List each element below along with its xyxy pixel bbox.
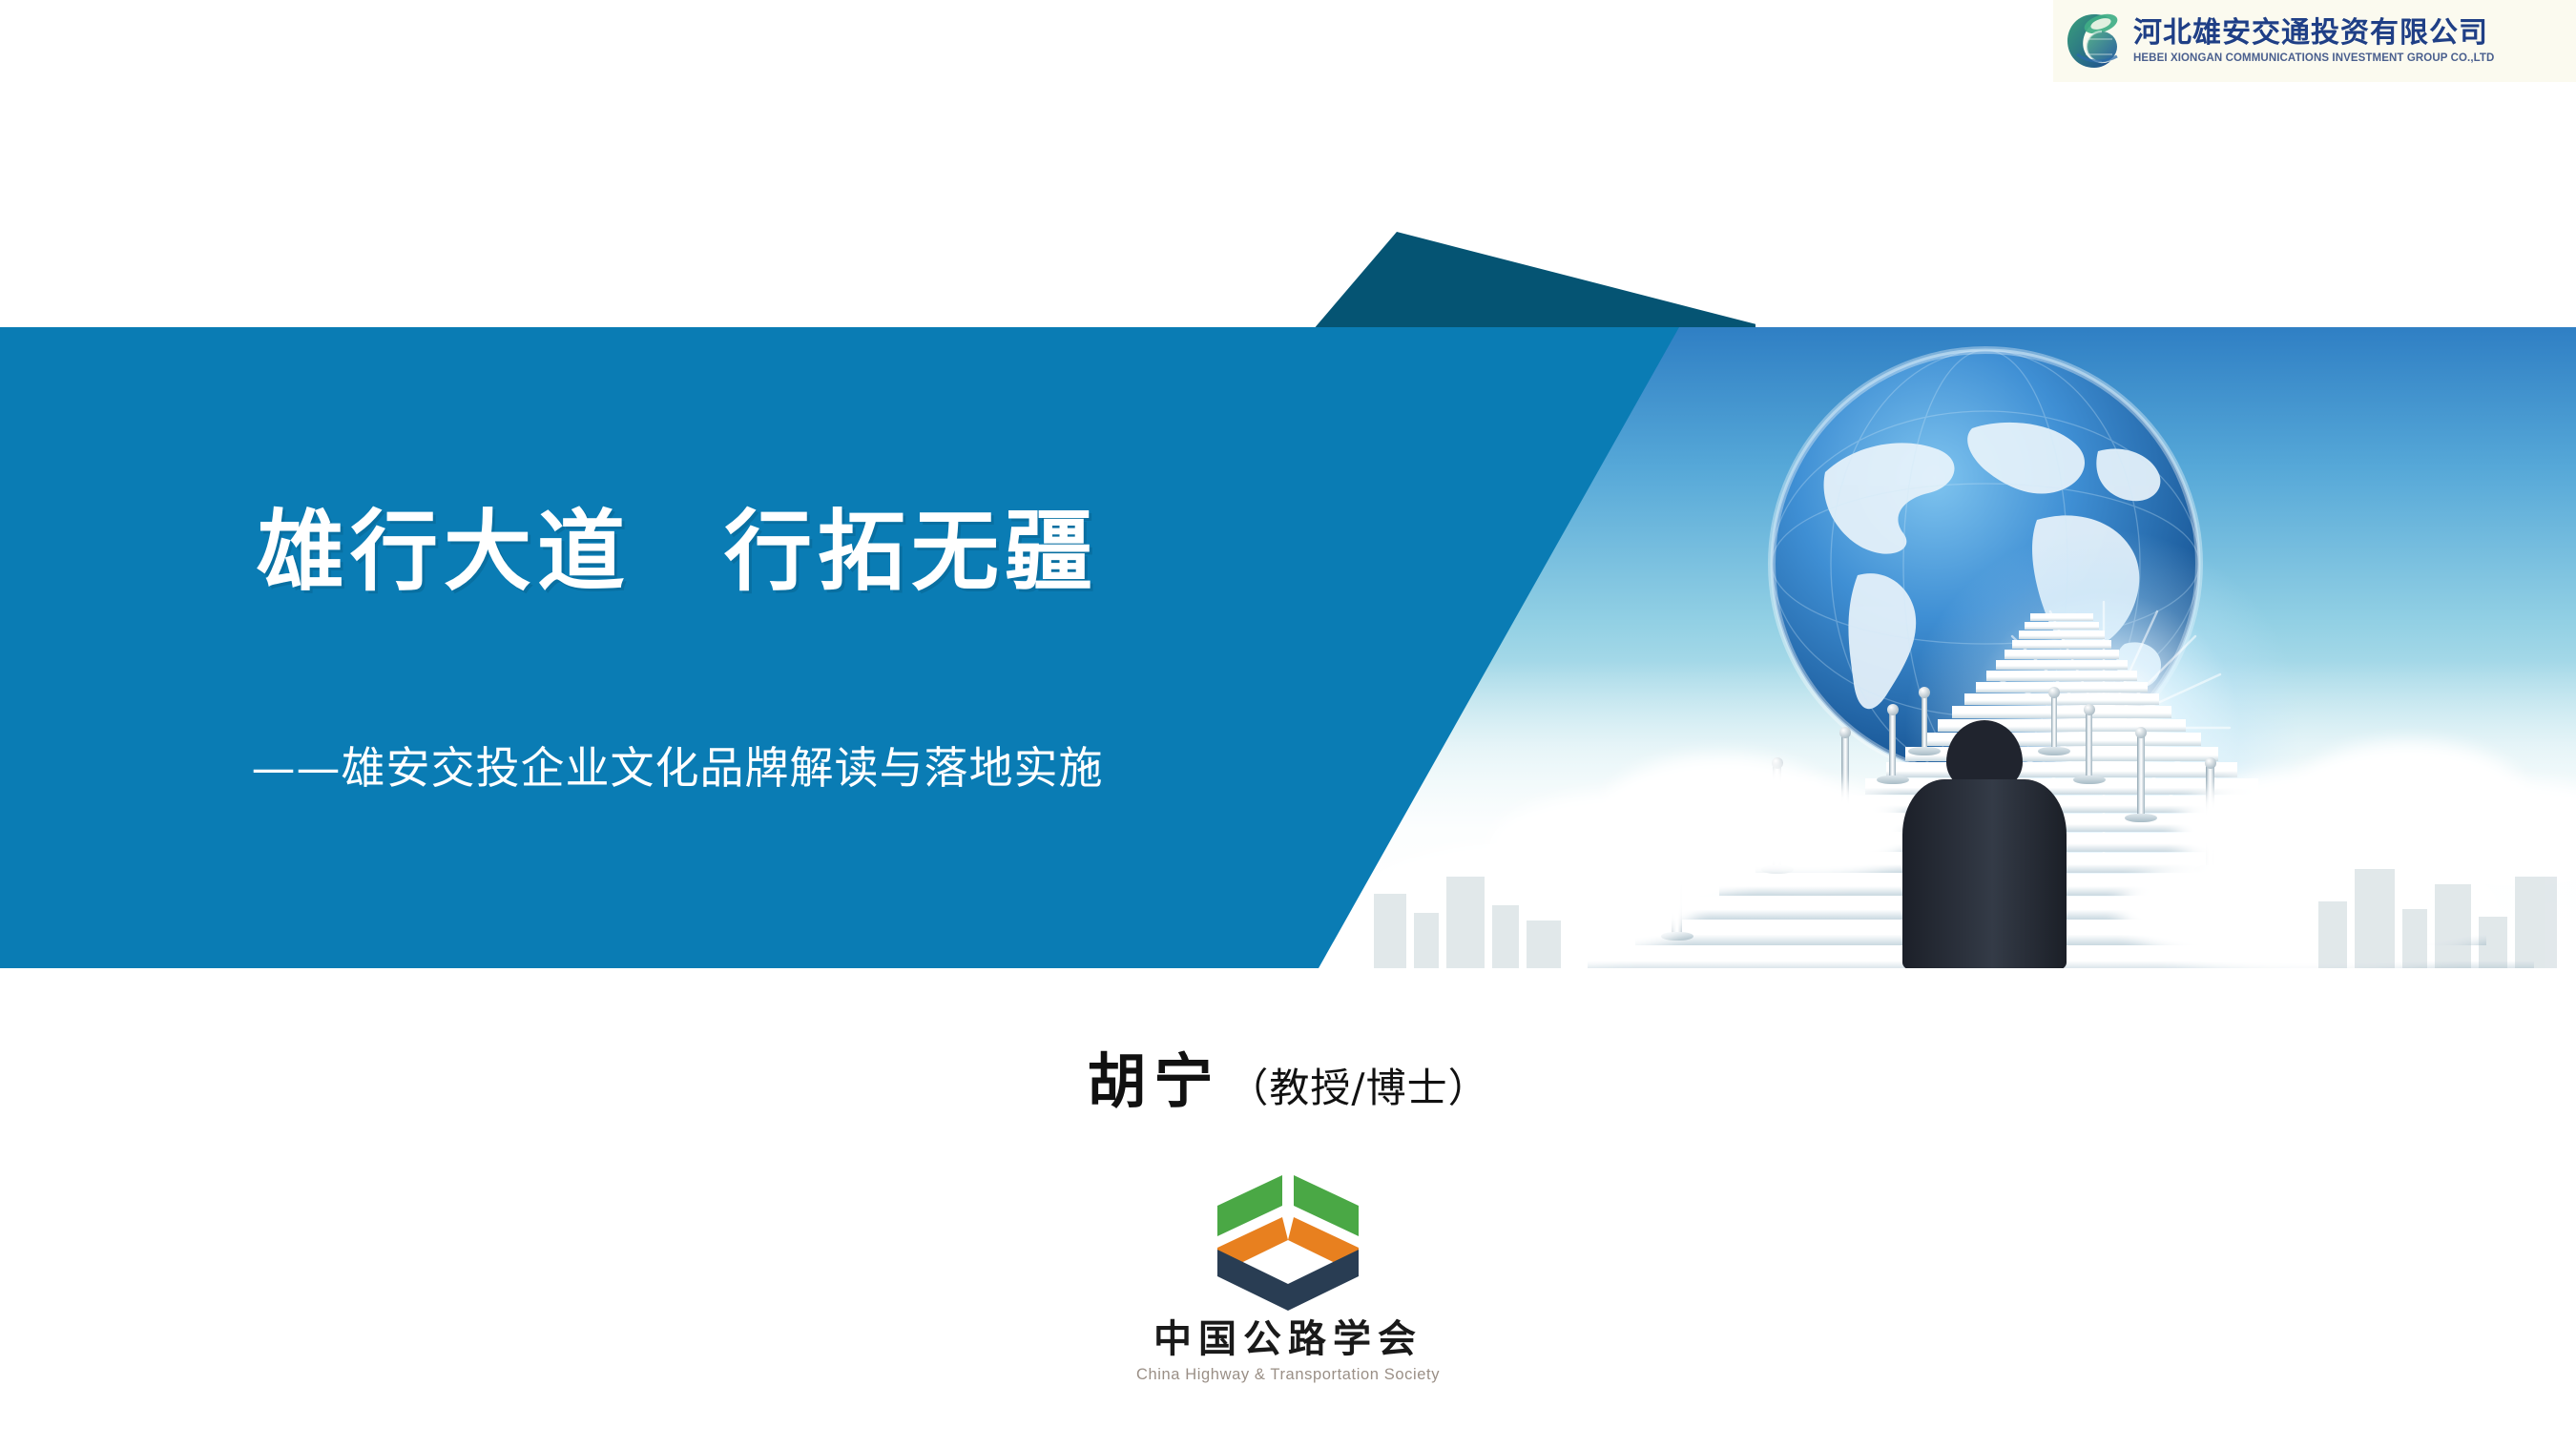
- hero-text-block: 雄行大道 行拓无疆 ——雄安交投企业文化品牌解读与落地实施: [0, 327, 1355, 968]
- chevron-hexagon-emblem-icon: [1208, 1169, 1368, 1313]
- speaker-line: 胡宁（教授/博士）: [0, 1033, 2576, 1119]
- corporate-name-en: HEBEI XIONGAN COMMUNICATIONS INVESTMENT …: [2133, 52, 2494, 66]
- society-name-en: China Highway & Transportation Society: [1136, 1367, 1440, 1383]
- globe-swoosh-logo-icon: [2063, 10, 2126, 72]
- page-title: 雄行大道 行拓无疆: [0, 504, 1355, 600]
- page-subtitle: ——雄安交投企业文化品牌解读与落地实施: [0, 742, 1355, 795]
- accent-triangle-shape: [1307, 232, 1755, 337]
- presentation-slide: 河北雄安交通投资有限公司 HEBEI XIONGAN COMMUNICATION…: [0, 0, 2576, 1448]
- corporate-name-cn: 河北雄安交通投资有限公司: [2133, 18, 2494, 49]
- speaker-credentials: （教授/博士）: [1228, 1065, 1488, 1111]
- society-name-cn: 中国公路学会: [1153, 1320, 1423, 1358]
- society-logo: 中国公路学会 China Highway & Transportation So…: [0, 1169, 2576, 1383]
- speaker-name: 胡宁: [1087, 1046, 1220, 1116]
- corporate-logo: 河北雄安交通投资有限公司 HEBEI XIONGAN COMMUNICATION…: [2053, 0, 2576, 82]
- corporate-logo-text: 河北雄安交通投资有限公司 HEBEI XIONGAN COMMUNICATION…: [2133, 16, 2494, 65]
